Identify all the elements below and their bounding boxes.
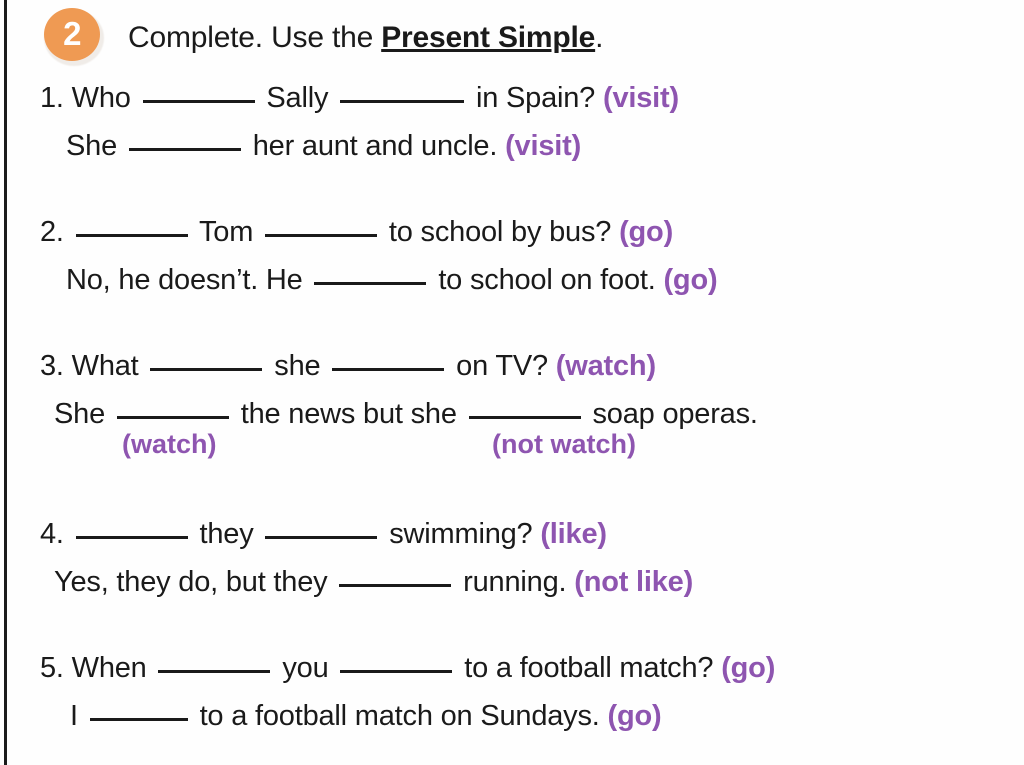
item-2-blank-1[interactable] (76, 234, 188, 237)
exercise-item-3: 3. What she on TV? (watch) She the news … (40, 350, 1000, 465)
item-2-answer-line: No, he doesn’t. He to school on foot. (g… (40, 264, 1000, 296)
item-3-a-text-before: She (54, 398, 105, 430)
instruction-prefix: Complete. Use the (128, 21, 381, 54)
instruction-emphasis: Present Simple (381, 21, 595, 54)
item-3-question-line: 3. What she on TV? (watch) (40, 350, 1000, 382)
item-4-blank-2[interactable] (265, 536, 377, 539)
page-edge-bar-left (4, 0, 7, 765)
item-4-question-line: 4. they swimming? (like) (40, 518, 1000, 550)
item-2-blank-2[interactable] (265, 234, 377, 237)
item-2-number: 2. (40, 216, 64, 248)
item-4-a-text-after: running. (463, 566, 566, 598)
exercise-header: 2 Complete. Use the Present Simple. (40, 6, 603, 70)
item-4-number: 4. (40, 518, 64, 550)
item-3-blank-1[interactable] (150, 368, 262, 371)
item-3-cue-row: (watch) (not watch) (40, 431, 1000, 465)
item-5-q-text-before: When (72, 652, 147, 684)
item-1-blank-1[interactable] (143, 100, 255, 103)
item-3-blank-2[interactable] (332, 368, 444, 371)
item-3-question-cue: (watch) (556, 350, 656, 382)
item-1-a-text-after: her aunt and uncle. (253, 130, 498, 162)
exercise-item-2: 2. Tom to school by bus? (go) No, he doe… (40, 216, 1000, 297)
item-2-question-cue: (go) (619, 216, 673, 248)
item-4-blank-1[interactable] (76, 536, 188, 539)
item-1-a-text-before: She (66, 130, 117, 162)
item-3-answer-line: She the news but she soap operas. (40, 398, 1000, 430)
item-2-answer-cue: (go) (663, 264, 717, 296)
item-3-q-text-middle: she (274, 350, 320, 382)
item-3-blank-3[interactable] (117, 416, 229, 419)
item-5-a-text-before: I (70, 700, 78, 732)
item-3-answer-cue-1: (watch) (122, 429, 217, 460)
item-4-q-text-middle: they (200, 518, 254, 550)
item-5-q-text-after: to a football match? (464, 652, 713, 684)
item-1-blank-3[interactable] (129, 148, 241, 151)
badge-number-label: 2 (63, 17, 81, 52)
item-3-q-text-before: What (72, 350, 139, 382)
item-5-answer-line: I to a football match on Sundays. (go) (40, 700, 1000, 732)
instruction-suffix: . (595, 21, 603, 54)
item-2-blank-3[interactable] (314, 282, 426, 285)
item-5-a-text-after: to a football match on Sundays. (200, 700, 600, 732)
item-5-question-line: 5. When you to a football match? (go) (40, 652, 1000, 684)
item-5-answer-cue: (go) (608, 700, 662, 732)
item-2-question-line: 2. Tom to school by bus? (go) (40, 216, 1000, 248)
item-2-a-text-after: to school on foot. (438, 264, 655, 296)
item-1-blank-2[interactable] (340, 100, 464, 103)
item-4-a-text-before: Yes, they do, but they (54, 566, 327, 598)
item-4-answer-line: Yes, they do, but they running. (not lik… (40, 566, 1000, 598)
item-3-blank-4[interactable] (469, 416, 581, 419)
item-3-answer-cue-2: (not watch) (492, 429, 636, 460)
exercise-number-badge: 2 (40, 6, 112, 70)
item-5-question-cue: (go) (721, 652, 775, 684)
item-1-q-text-before: Who (72, 82, 131, 114)
item-5-blank-3[interactable] (90, 718, 188, 721)
item-2-q-text-middle: Tom (199, 216, 253, 248)
item-1-question-line: 1. Who Sally in Spain? (visit) (40, 82, 1000, 114)
item-5-q-text-middle: you (282, 652, 328, 684)
item-2-q-text-after: to school by bus? (389, 216, 611, 248)
item-3-a-text-after: soap operas. (593, 398, 758, 430)
badge-circle: 2 (44, 8, 100, 61)
item-5-number: 5. (40, 652, 64, 684)
item-1-q-text-middle: Sally (266, 82, 328, 114)
item-3-number: 3. (40, 350, 64, 382)
worksheet-page: 2 Complete. Use the Present Simple. 1. W… (0, 0, 1024, 765)
item-1-answer-line: She her aunt and uncle. (visit) (40, 130, 1000, 162)
exercise-item-5: 5. When you to a football match? (go) I … (40, 652, 1000, 733)
item-2-a-text-before: No, he doesn’t. He (66, 264, 303, 296)
item-1-question-cue: (visit) (603, 82, 679, 114)
item-1-number: 1. (40, 82, 64, 114)
exercise-item-1: 1. Who Sally in Spain? (visit) She her a… (40, 82, 1000, 163)
item-1-q-text-after: in Spain? (476, 82, 595, 114)
item-4-question-cue: (like) (540, 518, 607, 550)
item-5-blank-1[interactable] (158, 670, 270, 673)
item-4-answer-cue: (not like) (574, 566, 693, 598)
item-4-blank-3[interactable] (339, 584, 451, 587)
item-3-a-text-middle: the news but she (241, 398, 457, 430)
item-3-q-text-after: on TV? (456, 350, 548, 382)
item-4-q-text-after: swimming? (389, 518, 532, 550)
exercise-item-4: 4. they swimming? (like) Yes, they do, b… (40, 518, 1000, 599)
item-1-answer-cue: (visit) (505, 130, 581, 162)
item-5-blank-2[interactable] (340, 670, 452, 673)
exercise-instruction: Complete. Use the Present Simple. (128, 21, 603, 55)
